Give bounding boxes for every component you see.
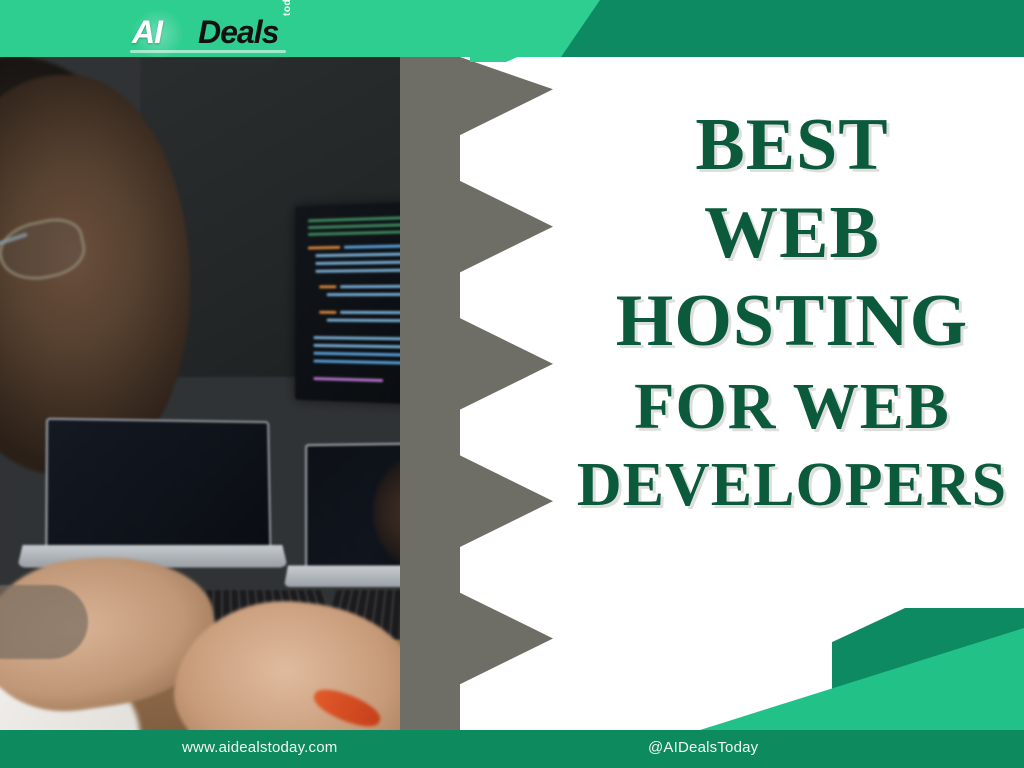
eyeglasses-icon xyxy=(0,217,155,287)
page-title: BEST WEB HOSTING FOR WEB DEVELOPERS xyxy=(566,108,1018,516)
title-line-2: WEB xyxy=(566,196,1018,270)
footer-website-link[interactable]: www.aidealstoday.com xyxy=(182,739,337,756)
footer-bar: www.aidealstoday.com @AIDealsToday xyxy=(0,730,1024,768)
logo-today-text: today xyxy=(282,0,293,16)
logo-underline xyxy=(130,50,286,53)
glasses-lens xyxy=(0,213,90,288)
title-line-5: DEVELOPERS xyxy=(566,454,1018,516)
logo-ai-text: AI xyxy=(132,14,162,51)
pill-overlay-shape xyxy=(0,585,88,659)
logo-deals-text: Deals xyxy=(198,14,278,51)
title-line-4: FOR WEB xyxy=(566,374,1018,440)
footer-social-handle[interactable]: @AIDealsToday xyxy=(648,739,758,756)
thumbnail-canvas: AI Deals today BEST WEB HOSTING FOR WEB … xyxy=(0,0,1024,768)
title-line-1: BEST xyxy=(566,108,1018,182)
title-line-3: HOSTING xyxy=(566,284,1018,358)
brand-logo[interactable]: AI Deals today xyxy=(124,12,304,54)
analytics-dashboard-laptop xyxy=(45,418,271,549)
